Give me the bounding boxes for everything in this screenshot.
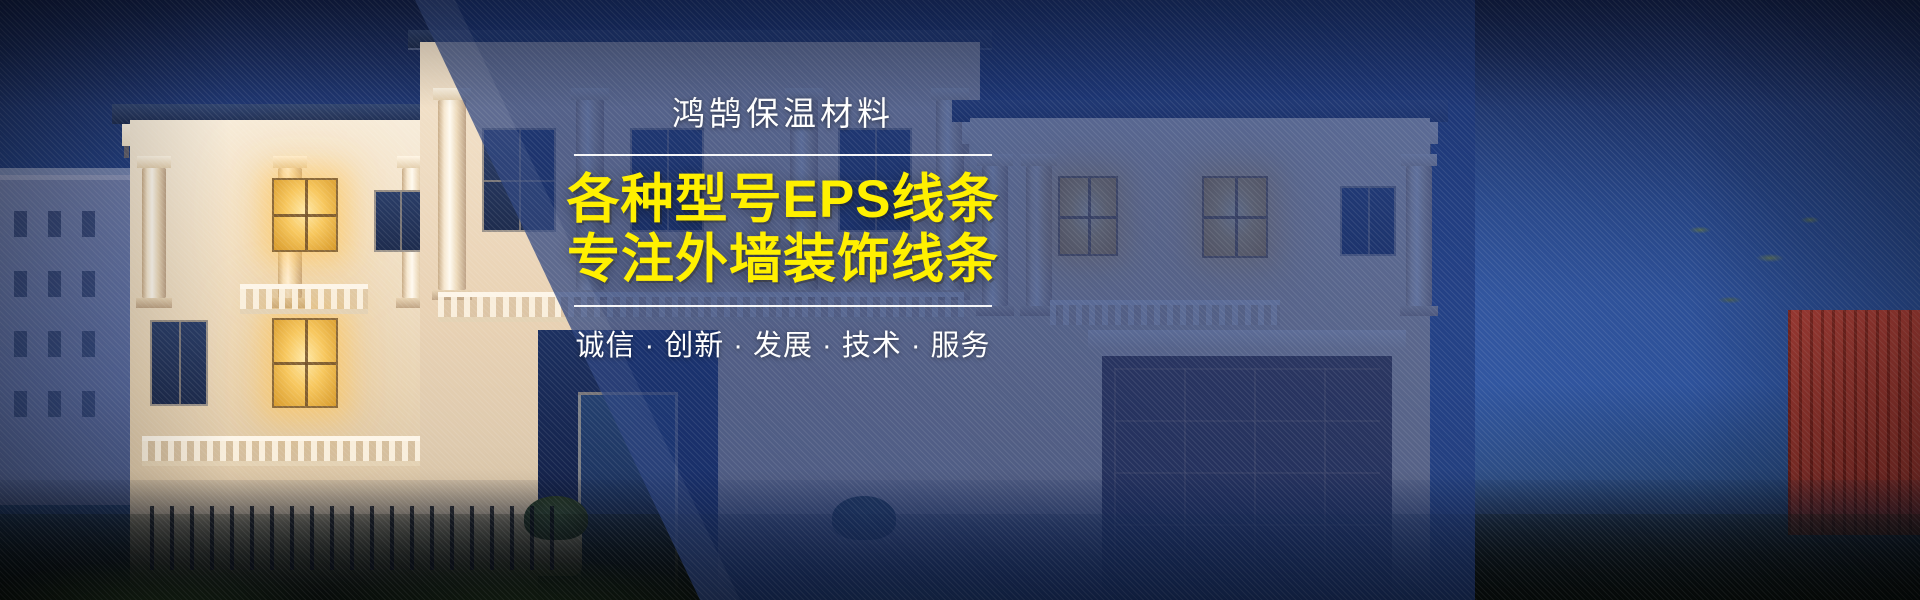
headline-line-1: 各种型号EPS线条	[548, 170, 1018, 229]
balustrade	[240, 284, 368, 314]
dark-window	[374, 190, 426, 252]
iron-fence	[150, 506, 570, 570]
column	[142, 168, 166, 298]
headline-group: 各种型号EPS线条 专注外墙装饰线条	[548, 170, 1018, 289]
divider-lower	[574, 305, 992, 307]
company-name: 鸿鹄保温材料	[548, 96, 1018, 132]
tagline: 诚信 · 创新 · 发展 · 技术 · 服务	[548, 322, 1018, 364]
banner-copy: 鸿鹄保温材料 各种型号EPS线条 专注外墙装饰线条 诚信 · 创新 · 发展 ·…	[548, 96, 1018, 436]
column	[438, 100, 466, 290]
divider-upper	[574, 154, 992, 156]
lit-window	[272, 178, 338, 252]
dark-window	[150, 320, 208, 406]
lit-window	[272, 318, 338, 408]
headline-line-2: 专注外墙装饰线条	[548, 230, 1018, 289]
hero-banner: 鸿鹄保温材料 各种型号EPS线条 专注外墙装饰线条 诚信 · 创新 · 发展 ·…	[0, 0, 1920, 600]
balustrade	[142, 436, 428, 466]
